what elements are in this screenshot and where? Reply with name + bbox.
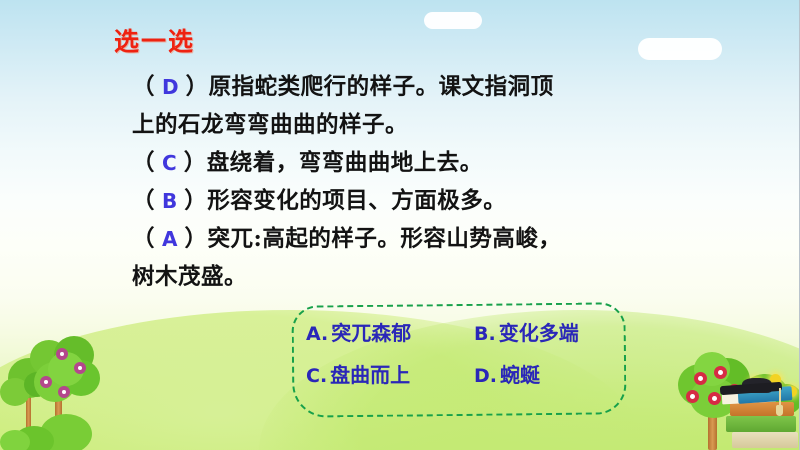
option-text: 盘曲而上 xyxy=(330,363,410,387)
page-title: 选一选 xyxy=(114,22,195,58)
option-b[interactable]: B.变化多端 xyxy=(474,317,624,346)
slide-canvas: 选一选 （D）原指蛇类爬行的样子。课文指洞顶 上的石龙弯弯曲曲的样子。 （C）盘… xyxy=(0,0,800,450)
open-paren: （ xyxy=(132,150,155,176)
open-paren: （ xyxy=(132,226,155,252)
option-letter: A. xyxy=(306,323,328,345)
options-grid: A.突兀森郁 B.变化多端 C.盘曲而上 D.蜿蜒 xyxy=(306,310,616,394)
option-d[interactable]: D.蜿蜒 xyxy=(474,359,624,388)
question-body: 形容变化的项目、方面极多。 xyxy=(207,188,506,214)
open-paren: （ xyxy=(132,74,155,100)
option-letter: C. xyxy=(306,365,327,387)
option-a[interactable]: A.突兀森郁 xyxy=(306,317,474,346)
cloud-icon xyxy=(424,12,482,29)
option-text: 蜿蜒 xyxy=(500,363,540,387)
answer-blank-b[interactable]: B xyxy=(155,189,184,213)
answer-options-box: A.突兀森郁 B.变化多端 C.盘曲而上 D.蜿蜒 xyxy=(292,304,626,416)
question-line-cont: 树木茂盛。 xyxy=(132,258,652,296)
answer-blank-c[interactable]: C xyxy=(155,151,184,175)
open-paren: （ xyxy=(132,188,155,214)
question-line: （D）原指蛇类爬行的样子。课文指洞顶 xyxy=(132,68,652,106)
answer-blank-d[interactable]: D xyxy=(155,75,186,99)
answer-blank-a[interactable]: A xyxy=(155,227,184,251)
cloud-icon xyxy=(638,38,722,60)
close-paren: ） xyxy=(185,226,208,252)
question-body: 原指蛇类爬行的样子。课文指洞顶 xyxy=(209,74,554,100)
option-c[interactable]: C.盘曲而上 xyxy=(306,359,474,388)
question-line: （A）突兀:高起的样子。形容山势高峻， xyxy=(132,220,652,258)
option-text: 变化多端 xyxy=(499,321,579,345)
question-text-block: （D）原指蛇类爬行的样子。课文指洞顶 上的石龙弯弯曲曲的样子。 （C）盘绕着，弯… xyxy=(132,68,652,296)
question-line: （B）形容变化的项目、方面极多。 xyxy=(132,182,652,220)
question-line-cont: 上的石龙弯弯曲曲的样子。 xyxy=(132,106,652,144)
option-letter: D. xyxy=(474,365,497,387)
question-body: 盘绕着，弯弯曲曲地上去。 xyxy=(207,150,483,176)
option-letter: B. xyxy=(474,323,496,345)
close-paren: ） xyxy=(184,150,207,176)
option-text: 突兀森郁 xyxy=(331,321,411,345)
close-paren: ） xyxy=(184,188,207,214)
question-line: （C）盘绕着，弯弯曲曲地上去。 xyxy=(132,144,652,182)
close-paren: ） xyxy=(186,74,209,100)
question-body: 突兀:高起的样子。形容山势高峻， xyxy=(208,226,562,252)
